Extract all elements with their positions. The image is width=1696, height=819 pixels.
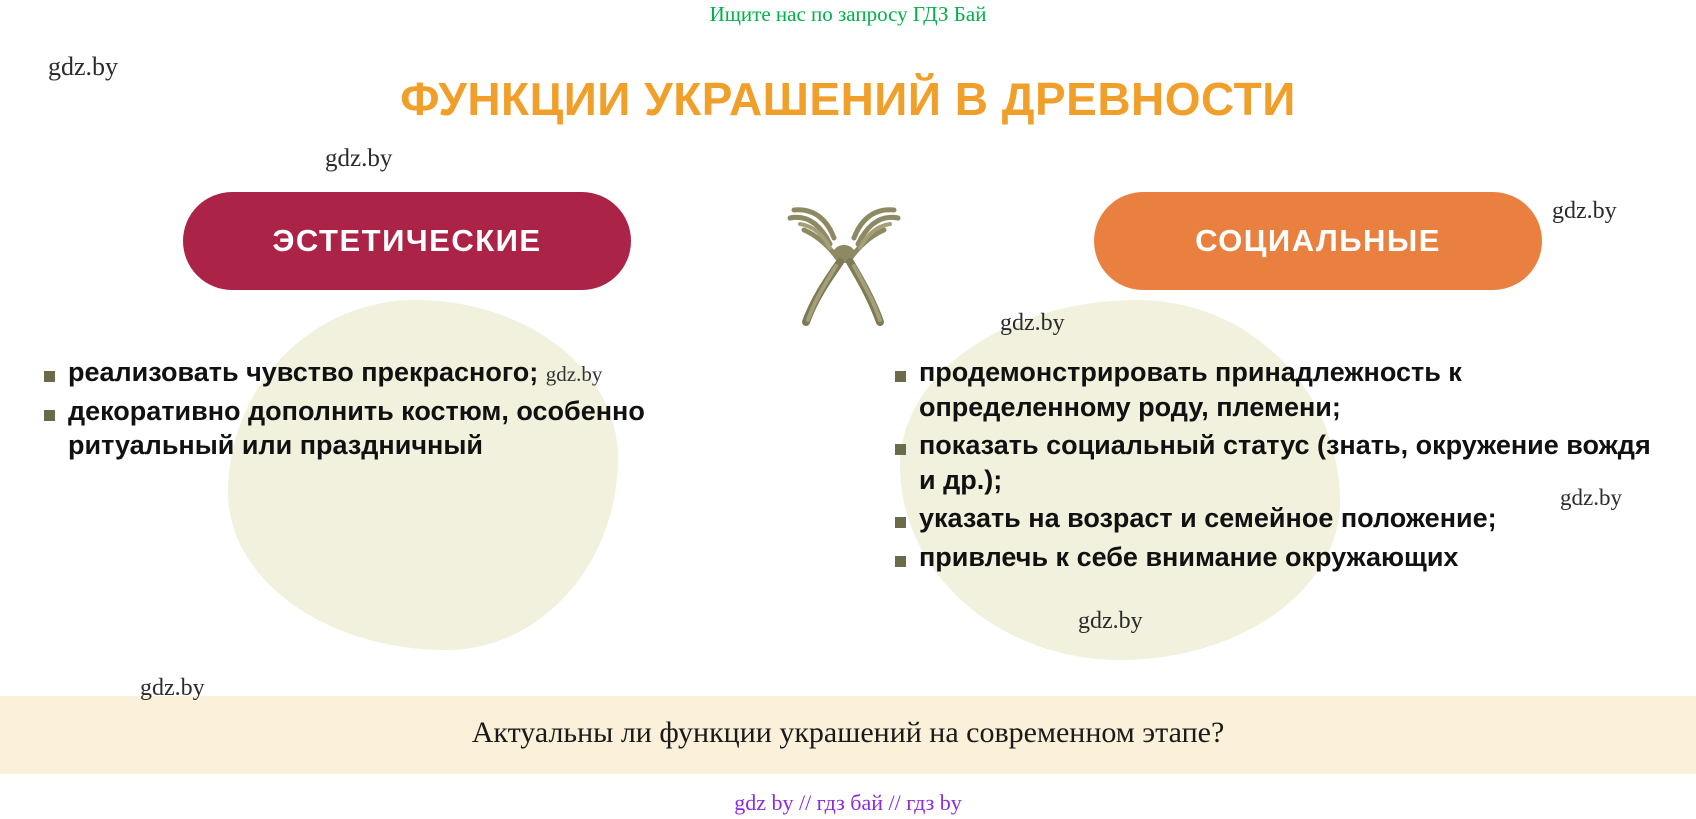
watermark: gdz.by [1560,485,1622,511]
watermark: gdz.by [48,52,118,82]
list-item: указать на возраст и семейное положение; [895,501,1665,536]
square-bullet-icon [895,556,906,567]
social-functions-list: продемонстрировать принадлежность к опре… [895,355,1665,578]
list-item-label: продемонстрировать принадлежность к опре… [919,355,1665,424]
top-promo-note: Ищите нас по запросу ГДЗ Бай [0,2,1696,27]
list-item: привлечь к себе внимание окружающих [895,540,1665,575]
watermark: gdz.by [1552,198,1617,225]
list-item-label: привлечь к себе внимание окружающих [919,540,1458,575]
list-item: показать социальный статус (знать, окруж… [895,428,1665,497]
watermark: gdz.by [325,145,392,173]
list-item-label: указать на возраст и семейное положение; [919,501,1497,536]
square-bullet-icon [44,410,55,421]
bow-ornament-icon [770,196,920,346]
list-item: реализовать чувство прекрасного; gdz.by [44,355,684,390]
watermark: gdz.by [1078,608,1143,635]
decorative-blob-left [228,300,618,650]
watermark: gdz.by [1000,310,1065,337]
list-item-label: реализовать чувство прекрасного; [68,357,538,387]
square-bullet-icon [895,371,906,382]
page-title: ФУНКЦИИ УКРАШЕНИЙ В ДРЕВНОСТИ [0,72,1696,126]
square-bullet-icon [895,444,906,455]
list-item: декоративно дополнить костюм, особенно р… [44,394,684,463]
category-pill-social: СОЦИАЛЬНЫЕ [1094,192,1542,290]
slide-page: Ищите нас по запросу ГДЗ Бай ФУНКЦИИ УКР… [0,0,1696,819]
category-pill-aesthetic: ЭСТЕТИЧЕСКИЕ [183,192,631,290]
watermark: gdz.by [140,675,205,702]
footer-links: gdz by // гдз бай // гдз by [0,790,1696,816]
list-item: продемонстрировать принадлежность к опре… [895,355,1665,424]
watermark-inline: gdz.by [546,362,603,386]
square-bullet-icon [895,517,906,528]
bottom-question: Актуальны ли функции украшений на соврем… [0,716,1696,750]
square-bullet-icon [44,371,55,382]
list-item-label: показать социальный статус (знать, окруж… [919,428,1665,497]
list-item-label: декоративно дополнить костюм, особенно р… [68,394,684,463]
aesthetic-functions-list: реализовать чувство прекрасного; gdz.by … [44,355,684,467]
